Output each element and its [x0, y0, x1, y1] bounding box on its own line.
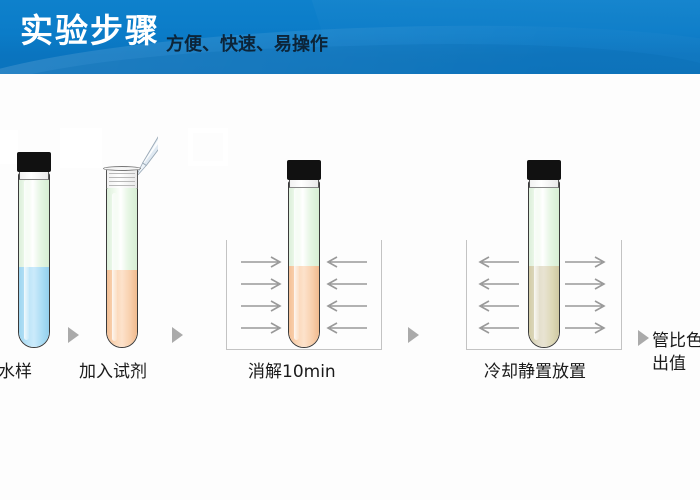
- step-separator-3: [408, 327, 419, 343]
- step-label-2: 加入试剂: [79, 364, 147, 381]
- step-separator-1: [68, 327, 79, 343]
- tube-glass-2: [106, 186, 138, 348]
- bg-artifact-1: [0, 130, 18, 164]
- cool-arrow-left-2: [478, 278, 520, 290]
- tube-rim-2: [103, 166, 141, 171]
- test-tube-3: [288, 180, 320, 348]
- heat-arrow-right-1: [326, 256, 368, 268]
- bg-artifact-2: [188, 128, 228, 166]
- tube-glass-3: [288, 180, 320, 348]
- tube-cap-1: [17, 152, 51, 172]
- tube-open-neck-2: [106, 168, 138, 188]
- final-result-line-1: 管比色: [652, 330, 700, 353]
- tube-highlight-3: [294, 188, 299, 341]
- step-label-3: 消解10min: [248, 364, 336, 381]
- bg-artifact-3: [60, 128, 102, 168]
- heat-arrow-right-2: [326, 278, 368, 290]
- cool-arrow-right-3: [564, 300, 606, 312]
- step-separator-2: [172, 327, 183, 343]
- tube-highlight-2: [112, 193, 117, 340]
- page-subtitle: 方便、快速、易操作: [166, 36, 328, 54]
- tube-cap-4: [527, 160, 561, 180]
- final-result-text: 管比色 出值: [652, 330, 700, 376]
- heat-arrow-left-2: [240, 278, 282, 290]
- cool-arrow-right-4: [564, 322, 606, 334]
- step-label-1: 水样: [0, 364, 32, 381]
- tube-highlight-4: [534, 188, 539, 341]
- step-label-4: 冷却静置放置: [484, 364, 586, 381]
- page-title: 实验步骤: [20, 14, 160, 47]
- header-banner: 实验步骤 方便、快速、易操作: [0, 0, 700, 74]
- tube-glass-1: [18, 172, 50, 348]
- tube-glass-4: [528, 180, 560, 348]
- cool-arrow-right-2: [564, 278, 606, 290]
- tube-highlight-1: [24, 180, 29, 340]
- page-root: 实验步骤 方便、快速、易操作 水样: [0, 0, 700, 500]
- heat-arrow-right-4: [326, 322, 368, 334]
- final-result-line-2: 出值: [652, 353, 700, 376]
- tube-cap-3: [287, 160, 321, 180]
- cool-arrow-left-4: [478, 322, 520, 334]
- heat-arrow-right-3: [326, 300, 368, 312]
- heat-arrow-left-1: [240, 256, 282, 268]
- cool-arrow-left-3: [478, 300, 520, 312]
- heat-arrow-left-4: [240, 322, 282, 334]
- cool-arrow-left-1: [478, 256, 520, 268]
- test-tube-4: [528, 180, 560, 348]
- test-tube-1: [18, 172, 50, 348]
- heat-arrow-left-3: [240, 300, 282, 312]
- test-tube-2: [106, 186, 138, 348]
- cool-arrow-right-1: [564, 256, 606, 268]
- step-separator-4: [638, 330, 649, 346]
